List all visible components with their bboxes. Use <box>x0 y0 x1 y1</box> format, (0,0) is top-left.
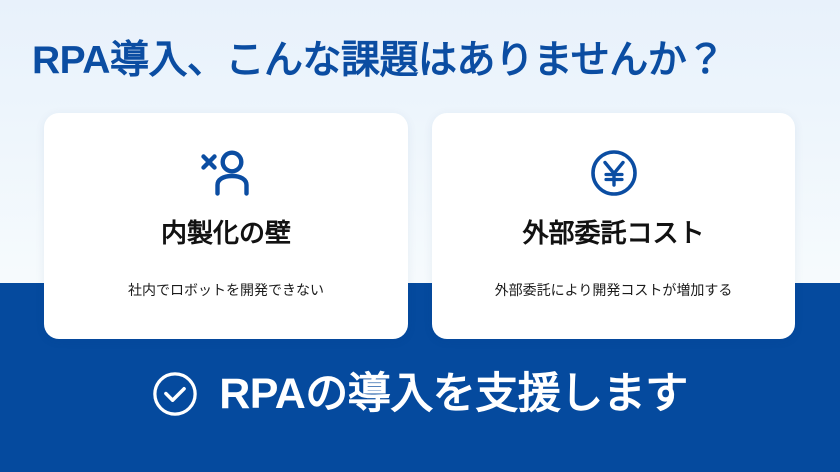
problem-card-list: 内製化の壁 社内でロボットを開発できない 外部委託コスト 外部委託により開発コス… <box>0 113 840 339</box>
problem-card-2: 外部委託コスト 外部委託により開発コストが増加する <box>432 113 795 339</box>
problem-card-title: 内製化の壁 <box>44 216 408 250</box>
problem-card-description: 社内でロボットを開発できない <box>44 280 408 300</box>
problem-card-title: 外部委託コスト <box>432 216 795 250</box>
person-x-icon <box>44 143 408 203</box>
solution-banner-text: RPAの導入を支援します <box>219 366 688 422</box>
problem-card-1: 内製化の壁 社内でロボットを開発できない <box>44 113 408 339</box>
yen-circle-icon <box>432 143 795 203</box>
page-title: RPA導入、こんな課題はありませんか？ <box>32 36 812 86</box>
solution-banner: RPAの導入を支援します <box>0 355 840 433</box>
check-circle-icon <box>152 371 198 417</box>
slide-root: RPA導入、こんな課題はありませんか？ 内製化の壁 社内でロボットを開発できない <box>0 0 840 472</box>
problem-card-description: 外部委託により開発コストが増加する <box>432 280 795 300</box>
